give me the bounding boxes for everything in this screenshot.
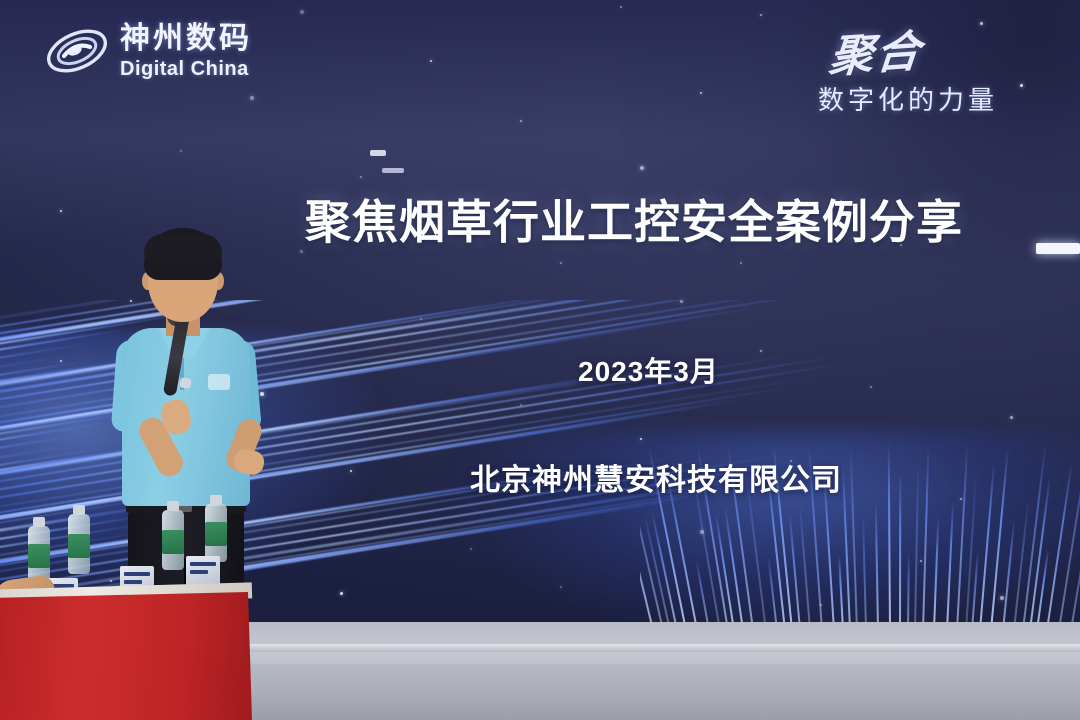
shirt-chest-logo: [208, 374, 230, 390]
water-bottle: [162, 510, 184, 570]
slide-title: 聚焦烟草行业工控安全案例分享: [305, 186, 1005, 252]
slide-date: 2023年3月: [578, 350, 719, 390]
slide-company-name: 北京神州慧安科技有限公司: [470, 455, 842, 499]
bottle-cap: [167, 501, 179, 511]
bottle-cap: [210, 495, 222, 505]
swirl-galaxy-icon: [44, 22, 110, 80]
bottle-label: [205, 522, 227, 546]
event-slogan: 数字化的力量: [818, 80, 998, 117]
event-calligraphy: 聚合: [827, 15, 925, 85]
brand-name-cn: 神州数码: [120, 24, 252, 54]
bottle-cap: [73, 505, 85, 515]
red-tablecloth: [0, 592, 258, 720]
microphone-base: [179, 377, 192, 389]
digital-china-logo: 神州数码 Digital China: [44, 22, 252, 80]
water-bottle: [68, 514, 90, 574]
bottle-label: [68, 534, 90, 558]
name-card: [186, 556, 220, 586]
bottle-cap: [33, 517, 45, 527]
brand-name-en: Digital China: [120, 59, 252, 79]
speaker-hair-fringe: [144, 234, 222, 264]
event-brand-mark: 聚合 数字化的力量: [806, 18, 1056, 114]
conference-stage-photo: 神州数码 Digital China 聚合 数字化的力量 聚焦烟草行业工控安全案…: [0, 0, 1080, 720]
water-bottle: [205, 504, 227, 562]
bottle-label: [28, 544, 50, 568]
bottle-label: [162, 530, 184, 554]
